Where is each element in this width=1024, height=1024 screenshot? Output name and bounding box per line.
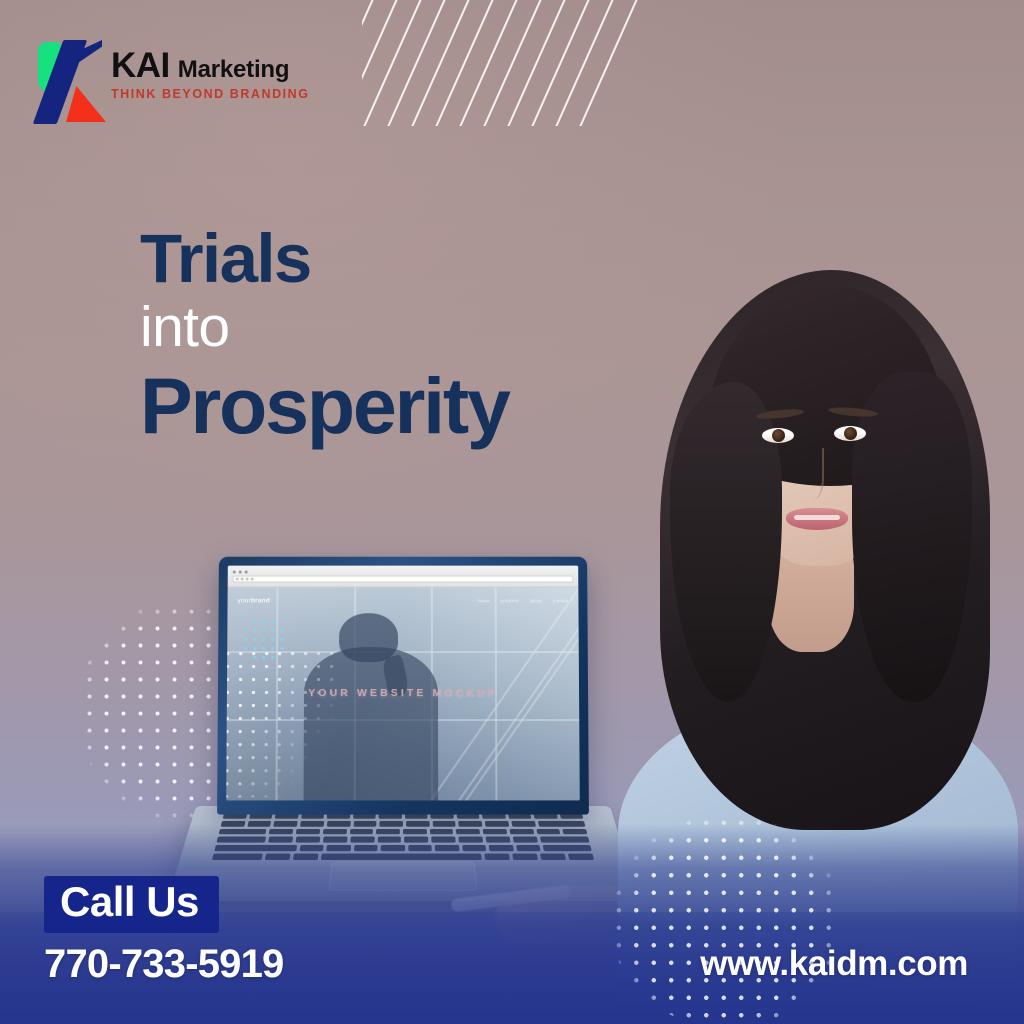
mockup-hero-text: YOUR WEBSITE MOCKUP: [227, 687, 579, 699]
logo-red-triangle: [66, 86, 106, 122]
nose: [798, 448, 824, 500]
browser-chrome: [228, 566, 579, 588]
laptop-screen: yourbrand home products about contact YO…: [226, 566, 580, 801]
close-icon: [233, 570, 236, 573]
window-traffic-lights: [233, 570, 574, 573]
back-icon: [236, 577, 239, 580]
mockup-page-body: yourbrand home products about contact YO…: [226, 587, 580, 800]
maximize-icon: [245, 570, 248, 573]
mockup-ring-graphic: [241, 617, 287, 663]
mockup-dot-pattern: [226, 647, 341, 797]
headline-line-2: into: [140, 293, 509, 363]
mockup-nav-item-products[interactable]: products: [501, 598, 519, 603]
home-icon: [251, 577, 254, 580]
mockup-header: yourbrand home products about contact: [227, 587, 578, 613]
dot-pattern-bottom-right: [610, 814, 842, 1024]
marketing-poster: yourbrand home products about contact YO…: [0, 0, 1024, 1024]
headline-block: Trials into Prosperity: [140, 226, 509, 445]
logo-subname: Marketing: [178, 58, 290, 82]
mockup-brand-prefix: your: [238, 597, 251, 604]
mouth: [786, 508, 848, 530]
kai-logo-mark-icon: [36, 40, 102, 122]
call-us-badge[interactable]: Call Us: [44, 876, 219, 933]
mockup-nav: home products about contact: [478, 598, 569, 603]
minimize-icon: [239, 570, 242, 573]
mockup-nav-item-contact[interactable]: contact: [553, 598, 569, 603]
mockup-nav-item-home[interactable]: home: [478, 598, 490, 603]
eye-right: [834, 426, 866, 441]
eye-left: [762, 428, 794, 443]
brand-logo[interactable]: KAI Marketing THINK BEYOND BRANDING: [36, 40, 310, 122]
mockup-brand-logo: yourbrand: [238, 597, 270, 604]
logo-wordmark: KAI Marketing THINK BEYOND BRANDING: [111, 40, 310, 101]
call-us-block: Call Us 770-733-5919: [44, 876, 284, 987]
browser-address-bar[interactable]: [233, 575, 574, 582]
reload-icon: [246, 577, 249, 580]
website-url[interactable]: www.kaidm.com: [700, 944, 968, 984]
mockup-nav-item-about[interactable]: about: [530, 598, 542, 603]
logo-name: KAI: [111, 48, 170, 83]
headline-line-3: Prosperity: [140, 366, 509, 445]
logo-tagline: THINK BEYOND BRANDING: [111, 87, 310, 101]
laptop-screen-lid: yourbrand home products about contact YO…: [217, 557, 589, 815]
mockup-brand-suffix: brand: [251, 597, 270, 604]
forward-icon: [241, 577, 244, 580]
headline-line-1: Trials: [140, 226, 509, 293]
phone-number[interactable]: 770-733-5919: [44, 942, 284, 987]
diagonal-lines-decoration: [362, 0, 658, 126]
